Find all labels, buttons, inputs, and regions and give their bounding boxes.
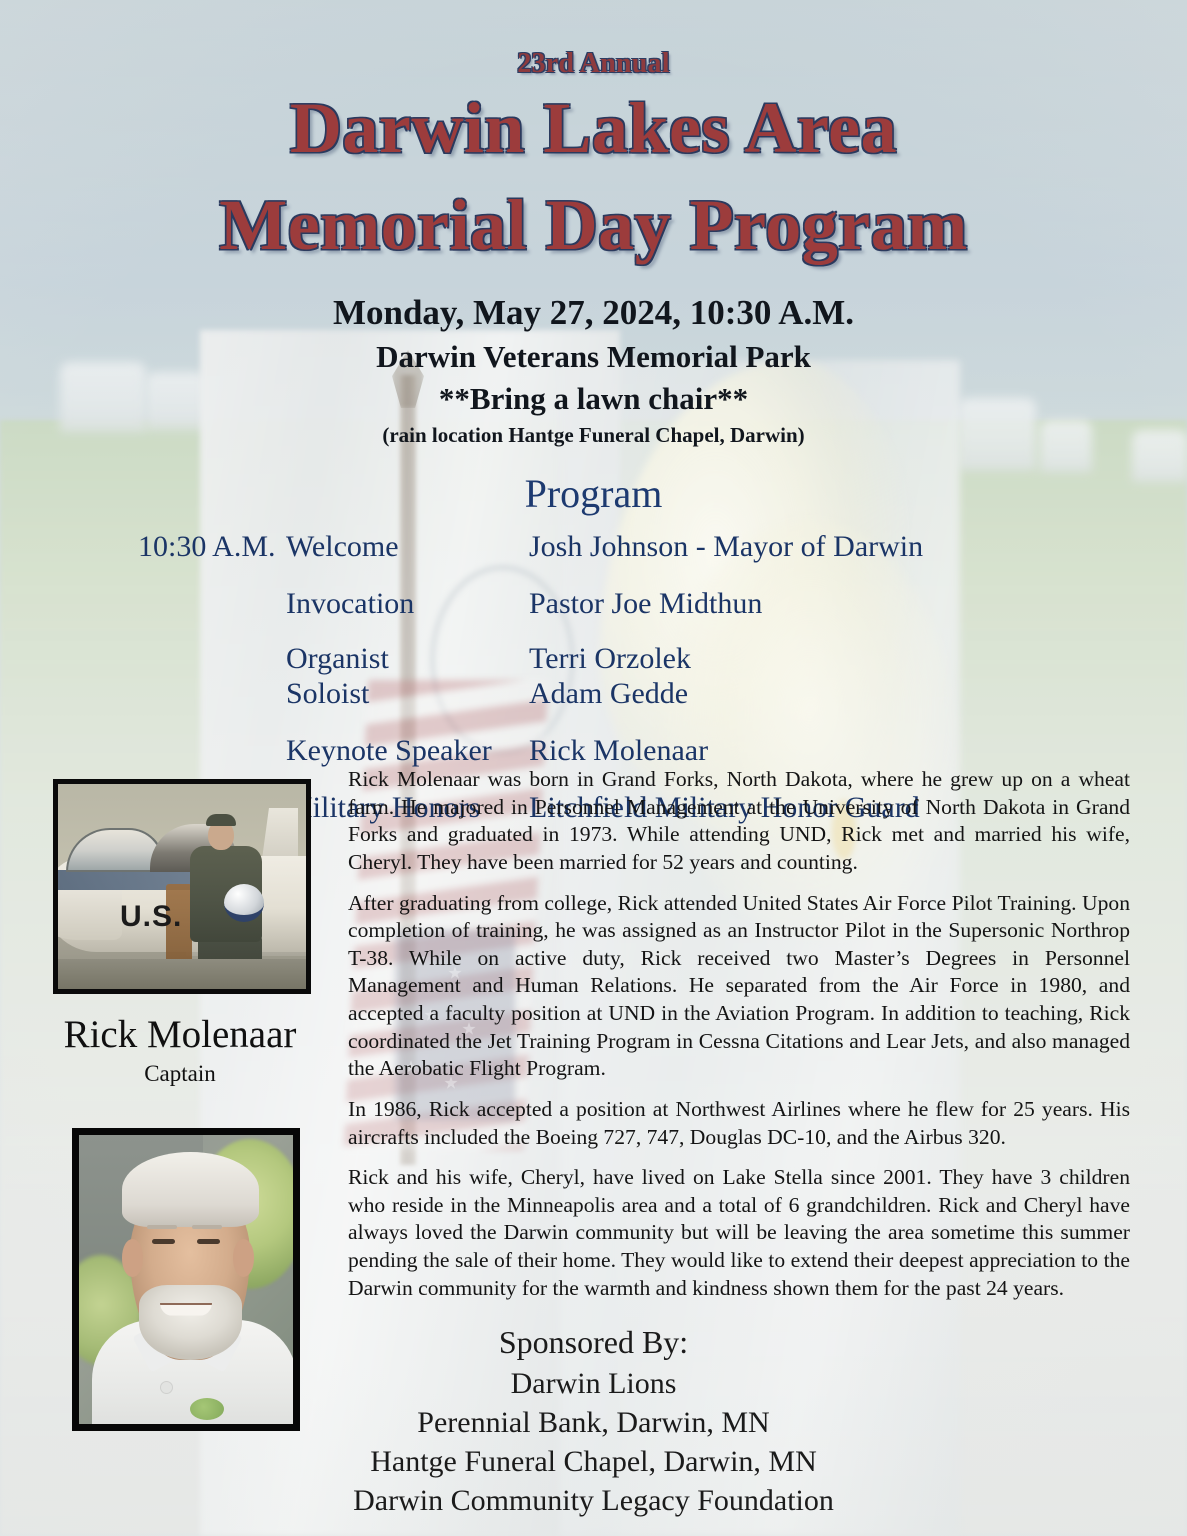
- schedule-role: Invocation: [286, 589, 529, 619]
- event-dateline: Monday, May 27, 2024, 10:30 A.M.: [0, 293, 1187, 333]
- portrait-eye-right: [197, 1239, 221, 1244]
- rain-location-note: (rain location Hantge Funeral Chapel, Da…: [0, 423, 1187, 448]
- annual-label: 23rd Annual: [0, 0, 1187, 78]
- schedule-row: 10:30 A.M. Welcome Josh Johnson - Mayor …: [138, 532, 1187, 562]
- schedule-person: Rick Molenaar: [529, 736, 1187, 766]
- sponsors-heading: Sponsored By:: [0, 1322, 1187, 1364]
- schedule-spacer: [138, 562, 1187, 589]
- portrait-ear-right: [233, 1239, 254, 1277]
- memorial-day-program-flyer: 23rd Annual Darwin Lakes Area Memorial D…: [0, 0, 1187, 1536]
- schedule-row: Invocation Pastor Joe Midthun: [138, 589, 1187, 619]
- sponsor-item: Perennial Bank, Darwin, MN: [0, 1403, 1187, 1442]
- portrait-eye-left: [152, 1239, 176, 1244]
- schedule-role: Welcome: [286, 532, 529, 562]
- bio-paragraph: Rick and his wife, Cheryl, have lived on…: [348, 1164, 1130, 1302]
- event-note: **Bring a lawn chair**: [0, 381, 1187, 417]
- pilot-cap: [206, 814, 236, 826]
- program-heading: Program: [0, 474, 1187, 514]
- portrait-ear-left: [122, 1239, 143, 1277]
- sponsor-item: Hantge Funeral Chapel, Darwin, MN: [0, 1442, 1187, 1481]
- schedule-person: Adam Gedde: [529, 679, 1187, 709]
- schedule-row: Soloist Adam Gedde: [138, 679, 1187, 709]
- schedule-time: 10:30 A.M.: [138, 532, 286, 562]
- portrait-hair: [122, 1152, 259, 1227]
- schedule-spacer: [138, 709, 1187, 736]
- speaker-rank-caption: Captain: [20, 1062, 340, 1085]
- schedule-spacer: [138, 619, 1187, 644]
- jet-us-marking: U.S.: [120, 900, 182, 934]
- portrait-smile: [160, 1303, 211, 1316]
- speaker-name-caption: Rick Molenaar: [20, 1015, 340, 1054]
- title-line-1: Darwin Lakes Area: [0, 92, 1187, 165]
- schedule-row: Organist Terri Orzolek: [138, 644, 1187, 674]
- jet-photo-tarmac: [58, 959, 306, 989]
- bio-paragraph: Rick Molenaar was born in Grand Forks, N…: [348, 766, 1130, 877]
- schedule-role: Soloist: [286, 679, 529, 709]
- photo-pilot-with-jet: U.S.: [53, 779, 311, 994]
- portrait-eyebrow-right: [192, 1225, 222, 1229]
- bio-paragraph: In 1986, Rick accepted a position at Nor…: [348, 1096, 1130, 1151]
- speaker-biography: Rick Molenaar was born in Grand Forks, N…: [348, 766, 1130, 1302]
- bio-paragraph: After graduating from college, Rick atte…: [348, 890, 1130, 1083]
- schedule-person: Terri Orzolek: [529, 644, 1187, 674]
- sponsors-section: Sponsored By: Darwin Lions Perennial Ban…: [0, 1322, 1187, 1520]
- schedule-role: Organist: [286, 644, 529, 674]
- flyer-content: 23rd Annual Darwin Lakes Area Memorial D…: [0, 0, 1187, 823]
- schedule-row: Keynote Speaker Rick Molenaar: [138, 736, 1187, 766]
- pilot-helmet: [224, 884, 264, 922]
- event-location: Darwin Veterans Memorial Park: [0, 339, 1187, 375]
- schedule-person: Josh Johnson - Mayor of Darwin: [529, 532, 1187, 562]
- portrait-eyebrow-left: [147, 1225, 177, 1229]
- sponsor-item: Darwin Lions: [0, 1364, 1187, 1403]
- schedule-role: Keynote Speaker: [286, 736, 529, 766]
- schedule-person: Pastor Joe Midthun: [529, 589, 1187, 619]
- title-line-2: Memorial Day Program: [0, 189, 1187, 262]
- sponsor-item: Darwin Community Legacy Foundation: [0, 1481, 1187, 1520]
